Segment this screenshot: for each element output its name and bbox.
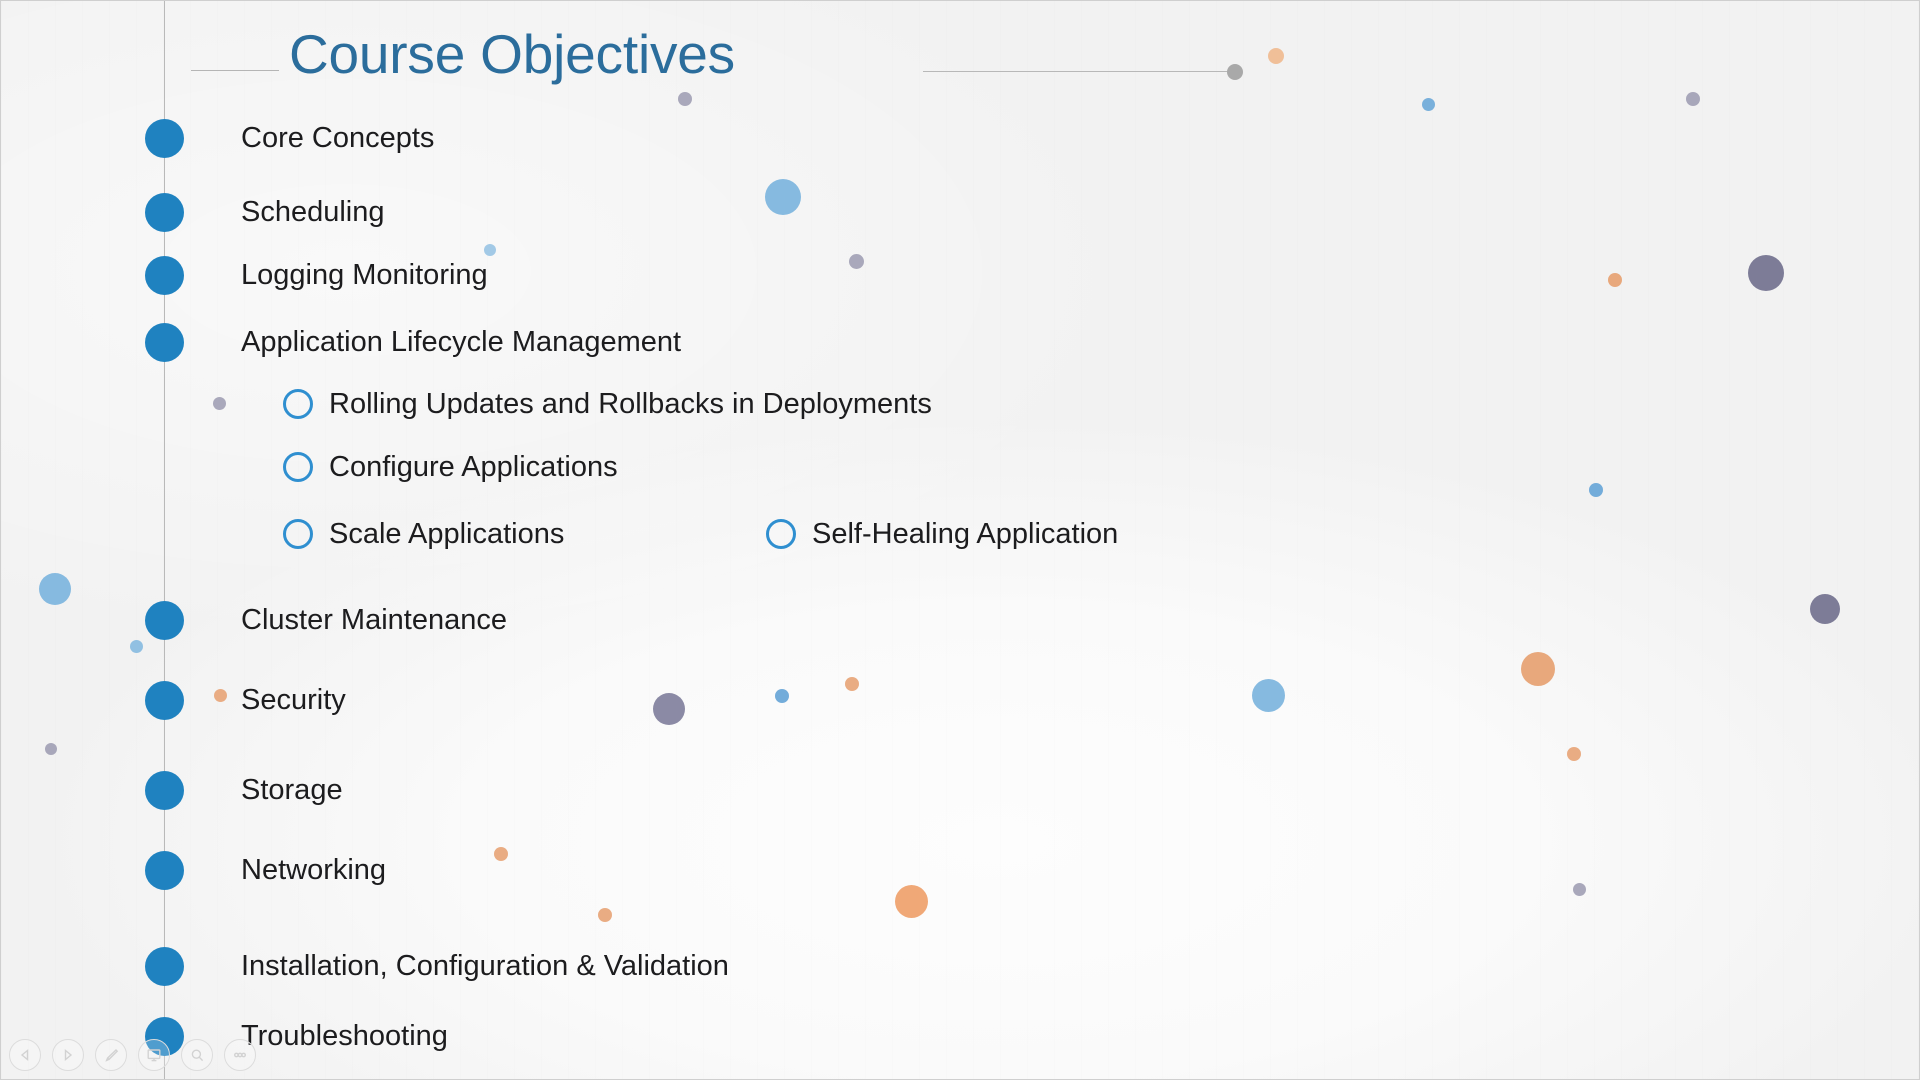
decorative-bubble: [1608, 273, 1622, 287]
decorative-bubble: [895, 885, 928, 918]
decorative-bubble: [1573, 883, 1586, 896]
decorative-bubble: [1252, 679, 1285, 712]
hollow-circle-bullet-icon: [283, 389, 313, 419]
hollow-circle-bullet-icon: [283, 519, 313, 549]
decorative-bubble: [1810, 594, 1840, 624]
decorative-bubble: [1686, 92, 1700, 106]
filled-circle-bullet-icon: [145, 256, 184, 295]
decorative-bubble: [1521, 652, 1555, 686]
pen-icon: [103, 1047, 120, 1064]
decorative-bubble: [653, 693, 685, 725]
filled-circle-bullet-icon: [145, 193, 184, 232]
magnifier-icon: [189, 1047, 206, 1064]
title-rule-dot-icon: [1227, 64, 1243, 80]
outline-main-item-label: Application Lifecycle Management: [241, 321, 681, 363]
filled-circle-bullet-icon: [145, 601, 184, 640]
title-rule-line: [923, 71, 1233, 72]
ellipsis-icon: [231, 1046, 249, 1064]
screen-icon: [145, 1046, 163, 1064]
filled-circle-bullet-icon: [145, 947, 184, 986]
outline-main-item-label: Storage: [241, 769, 343, 811]
outline-sub-item-label: Configure Applications: [329, 446, 618, 488]
decorative-bubble: [765, 179, 801, 215]
presentation-slide: Course Objectives Core ConceptsSchedulin…: [0, 0, 1920, 1080]
filled-circle-bullet-icon: [145, 771, 184, 810]
outline-main-item-label: Cluster Maintenance: [241, 599, 507, 641]
present-button[interactable]: [138, 1039, 170, 1071]
filled-circle-bullet-icon: [145, 323, 184, 362]
outline-main-item-label: Installation, Configuration & Validation: [241, 945, 729, 987]
decorative-bubble: [39, 573, 71, 605]
outline-sub-item-label: Rolling Updates and Rollbacks in Deploym…: [329, 383, 932, 425]
slideshow-toolbar[interactable]: [9, 1039, 256, 1071]
decorative-bubble: [213, 397, 226, 410]
triangle-right-icon: [60, 1047, 76, 1063]
filled-circle-bullet-icon: [145, 681, 184, 720]
filled-circle-bullet-icon: [145, 119, 184, 158]
title-row: Course Objectives: [1, 19, 1920, 91]
decorative-bubble: [1589, 483, 1603, 497]
triangle-left-icon: [17, 1047, 33, 1063]
outline-main-item-label: Core Concepts: [241, 117, 434, 159]
outline-sub-item-label: Scale Applications: [329, 513, 564, 555]
page-title: Course Objectives: [289, 19, 735, 89]
decorative-bubble: [45, 743, 57, 755]
outline-main-item-label: Scheduling: [241, 191, 385, 233]
decorative-bubble: [1748, 255, 1784, 291]
zoom-button[interactable]: [181, 1039, 213, 1071]
hollow-circle-bullet-icon: [766, 519, 796, 549]
outline-main-item-label: Troubleshooting: [241, 1015, 448, 1057]
outline-main-item-label: Networking: [241, 849, 386, 891]
more-button[interactable]: [224, 1039, 256, 1071]
pen-button[interactable]: [95, 1039, 127, 1071]
outline-sub-item-label: Self-Healing Application: [812, 513, 1118, 555]
play-button[interactable]: [52, 1039, 84, 1071]
hollow-circle-bullet-icon: [283, 452, 313, 482]
previous-button[interactable]: [9, 1039, 41, 1071]
decorative-bubble: [1422, 98, 1435, 111]
decorative-bubble: [130, 640, 143, 653]
decorative-bubble: [494, 847, 508, 861]
title-connector-line: [191, 70, 279, 71]
outline-main-item-label: Logging Monitoring: [241, 254, 488, 296]
decorative-bubble: [214, 689, 227, 702]
decorative-bubble: [775, 689, 789, 703]
decorative-bubble: [849, 254, 864, 269]
decorative-bubble: [1567, 747, 1581, 761]
timeline-spine: [164, 1, 165, 1080]
filled-circle-bullet-icon: [145, 851, 184, 890]
outline-main-item-label: Security: [241, 679, 346, 721]
decorative-bubble: [598, 908, 612, 922]
decorative-bubble: [845, 677, 859, 691]
decorative-bubble: [678, 92, 692, 106]
